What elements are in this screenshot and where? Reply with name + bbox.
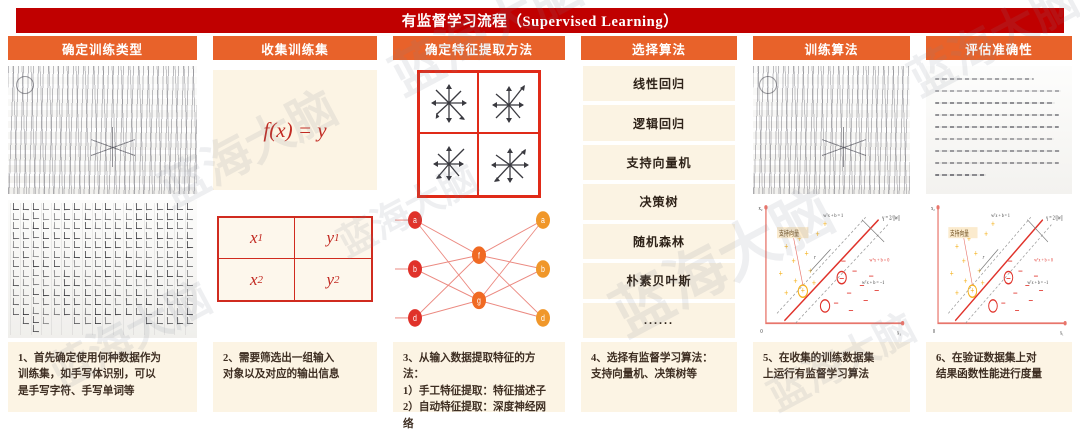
- column-header-4[interactable]: 选择算法: [581, 36, 737, 60]
- column-footer-2: 2、需要筛选出一组输入 对象以及对应的输出信息: [213, 342, 377, 412]
- svg-text:b: b: [413, 264, 417, 274]
- calligraphy-column: [123, 203, 133, 335]
- algorithm-item[interactable]: ......: [583, 303, 735, 338]
- algorithm-item[interactable]: 线性回归: [583, 66, 735, 101]
- svg-text:+: +: [964, 275, 968, 287]
- table-cell-x1: x1: [219, 218, 295, 259]
- image-handwritten-formulas-1: [8, 66, 197, 194]
- svg-text:+: +: [981, 277, 985, 289]
- handwriting-line: [935, 90, 1061, 92]
- algorithm-item[interactable]: 决策树: [583, 184, 735, 219]
- svg-text:–: –: [863, 294, 868, 306]
- svg-text:x₁: x₁: [1060, 330, 1064, 337]
- hog-cell-3: [420, 134, 479, 195]
- formula-fx: f(x) = y: [213, 70, 377, 190]
- svg-text:–: –: [1007, 255, 1012, 268]
- column-header-6[interactable]: 评估准确性: [926, 36, 1072, 60]
- svg-text:–: –: [1028, 294, 1033, 307]
- handwriting-line: [935, 138, 1055, 140]
- calligraphy-column: [61, 203, 71, 335]
- svg-text:+: +: [962, 255, 966, 267]
- column-footer-5: 5、在收集的训练数据集 上运行有监督学习算法: [753, 342, 910, 412]
- svg-text:–: –: [841, 255, 846, 267]
- image-handwritten-english-document: [926, 66, 1072, 194]
- handwriting-line: [935, 102, 1056, 104]
- calligraphy-column: [41, 203, 51, 335]
- algorithm-item[interactable]: 朴素贝叶斯: [583, 263, 735, 298]
- svg-text:–: –: [1038, 284, 1043, 297]
- svm-margin-plot-2: x₂x₁0++++++++++++––––––––––支持向量rγ = 2/||…: [926, 200, 1072, 338]
- svg-text:0: 0: [760, 329, 763, 336]
- calligraphy-column: [31, 203, 41, 335]
- column-determine-training-type: 确定训练类型 1、首先确定使用何种数据作为 训练集，如手写体识别，可以 是手写字…: [0, 36, 205, 416]
- flow-columns: 确定训练类型 1、首先确定使用何种数据作为 训练集，如手写体识别，可以 是手写字…: [0, 36, 1080, 416]
- svg-text:+: +: [955, 287, 959, 299]
- column-footer-1: 1、首先确定使用何种数据作为 训练集，如手写体识别，可以 是手写字符、手写单词等: [8, 342, 197, 412]
- hog-cell-2: [479, 73, 538, 134]
- svg-text:+: +: [974, 247, 978, 259]
- svg-text:–: –: [852, 265, 857, 277]
- column-header-3[interactable]: 确定特征提取方法: [393, 36, 565, 60]
- calligraphy-column: [144, 203, 154, 335]
- svg-text:x₁: x₁: [897, 330, 901, 337]
- svg-text:d: d: [541, 313, 545, 323]
- column-train-algorithm: 训练算法 x₂x₁0++++++++++++––––––––––支持向量rγ =…: [745, 36, 918, 416]
- svg-text:+: +: [804, 248, 808, 259]
- svg-text:+: +: [984, 228, 988, 240]
- svg-text:d: d: [413, 313, 417, 323]
- hog-cell-4: [479, 134, 538, 195]
- calligraphy-column: [82, 203, 92, 335]
- image-handwritten-formulas-2: [753, 66, 910, 194]
- svg-text:支持向量: 支持向量: [779, 229, 799, 238]
- column-header-1[interactable]: 确定训练类型: [8, 36, 197, 60]
- calligraphy-column: [102, 203, 112, 335]
- svg-text:–: –: [1018, 265, 1023, 278]
- svg-text:a: a: [541, 215, 545, 225]
- table-cell-y1: y1: [295, 218, 371, 259]
- calligraphy-column: [10, 203, 20, 335]
- svg-text:+: +: [955, 240, 959, 252]
- hog-descriptor-grid: [417, 70, 541, 198]
- table-cell-x2: x2: [219, 259, 295, 300]
- calligraphy-column: [174, 203, 184, 335]
- svg-text:wᵀx + b = 1: wᵀx + b = 1: [823, 213, 843, 220]
- handwriting-line: [935, 162, 1059, 164]
- image-chinese-calligraphy: [8, 200, 197, 338]
- table-cell-y2: y2: [295, 259, 371, 300]
- svg-text:b: b: [541, 264, 545, 274]
- calligraphy-column: [164, 203, 174, 335]
- calligraphy-column: [20, 203, 30, 335]
- svg-text:γ = 2/||w||: γ = 2/||w||: [1046, 215, 1062, 222]
- svg-text:0: 0: [933, 328, 935, 335]
- calligraphy-column: [154, 203, 164, 335]
- column-header-5[interactable]: 训练算法: [753, 36, 910, 60]
- svg-text:+: +: [977, 265, 981, 277]
- handwriting-line: [935, 126, 1059, 128]
- svg-text:+: +: [808, 265, 812, 276]
- svg-text:wᵀx + b = 0: wᵀx + b = 0: [1034, 257, 1053, 264]
- svg-text:r: r: [814, 255, 817, 262]
- column-collect-training-set: 收集训练集 f(x) = y x1 y1 x2 y2 2、需要筛选出一组输入 对…: [205, 36, 385, 416]
- calligraphy-column: [133, 203, 143, 335]
- svg-text:wᵀx + b = −1: wᵀx + b = −1: [862, 279, 885, 286]
- algorithm-item[interactable]: 支持向量机: [583, 145, 735, 180]
- svg-text:+: +: [823, 218, 827, 229]
- algorithm-item[interactable]: 逻辑回归: [583, 105, 735, 140]
- svg-text:–: –: [833, 297, 838, 309]
- svg-text:–: –: [1013, 287, 1018, 300]
- svg-text:+: +: [950, 267, 954, 279]
- svg-text:–: –: [874, 285, 879, 297]
- svg-text:wᵀx + b = −1: wᵀx + b = −1: [1027, 279, 1048, 286]
- handwriting-line: [935, 114, 1059, 116]
- svg-text:支持向量: 支持向量: [950, 229, 969, 238]
- column-header-2[interactable]: 收集训练集: [213, 36, 377, 60]
- svg-text:x₂: x₂: [759, 205, 763, 212]
- handwriting-line: [935, 78, 1034, 80]
- svg-text:r: r: [983, 255, 985, 262]
- svg-text:a: a: [413, 215, 417, 225]
- calligraphy-column: [185, 203, 195, 335]
- svg-text:x₂: x₂: [931, 205, 935, 212]
- calligraphy-column: [51, 203, 61, 335]
- column-feature-extraction: 确定特征提取方法: [385, 36, 573, 416]
- column-choose-algorithm: 选择算法 线性回归逻辑回归支持向量机决策树随机森林朴素贝叶斯...... 4、选…: [573, 36, 745, 416]
- calligraphy-column: [113, 203, 123, 335]
- svg-text:wᵀx + b = 0: wᵀx + b = 0: [869, 257, 889, 264]
- svg-text:+: +: [784, 240, 788, 251]
- page-title: 有监督学习流程（Supervised Learning）: [16, 8, 1064, 33]
- svg-text:–: –: [1014, 304, 1019, 317]
- column-footer-3: 3、从输入数据提取特征的方法： 1）手工特征提取：特征描述子 2）自动特征提取：…: [393, 342, 565, 412]
- svg-text:+: +: [793, 275, 797, 286]
- hog-cell-1: [420, 73, 479, 134]
- svg-text:g: g: [477, 296, 481, 306]
- svm-margin-plot-1: x₂x₁0++++++++++++––––––––––支持向量rγ = 2/||…: [753, 200, 910, 338]
- handwriting-line: [935, 174, 986, 176]
- svg-text:–: –: [1001, 297, 1006, 310]
- column-footer-6: 6、在验证数据集上对 结果函数性能进行度量: [926, 342, 1072, 412]
- svg-text:wᵀx + b = 1: wᵀx + b = 1: [991, 213, 1010, 220]
- svg-text:+: +: [816, 228, 820, 239]
- handwriting-line: [935, 150, 1060, 152]
- svg-text:+: +: [784, 287, 788, 298]
- svg-text:–: –: [846, 287, 851, 299]
- svg-text:–: –: [848, 304, 853, 316]
- svg-text:+: +: [792, 255, 796, 266]
- xy-sample-table: x1 y1 x2 y2: [217, 216, 373, 302]
- svg-text:+: +: [812, 277, 816, 288]
- svg-text:+: +: [779, 267, 783, 278]
- svg-text:+: +: [801, 285, 805, 296]
- column-footer-4: 4、选择有监督学习算法： 支持向量机、决策树等: [581, 342, 737, 412]
- svg-text:γ = 2/||w||: γ = 2/||w||: [881, 215, 899, 222]
- calligraphy-column: [72, 203, 82, 335]
- algorithm-list: 线性回归逻辑回归支持向量机决策树随机森林朴素贝叶斯......: [583, 66, 735, 338]
- calligraphy-column: [92, 203, 102, 335]
- neural-network-diagram: a b d f g a b d: [393, 200, 565, 338]
- algorithm-item[interactable]: 随机森林: [583, 224, 735, 259]
- column-evaluate-accuracy: 评估准确性 x₂x₁0++++++++++++––––––––––支持向量rγ …: [918, 36, 1080, 416]
